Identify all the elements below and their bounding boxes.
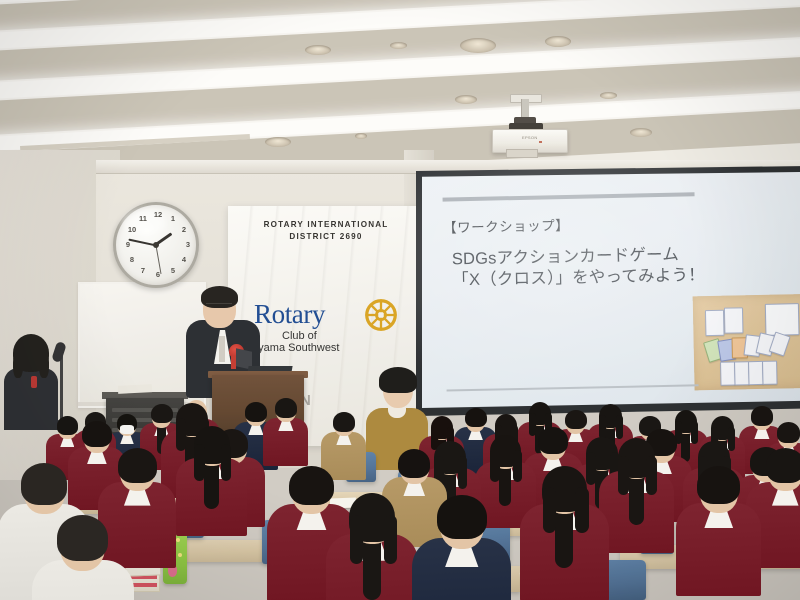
ceiling-downlight (455, 95, 477, 104)
rotary-club-of-label: Club of (282, 330, 317, 342)
audience-hair (118, 448, 157, 483)
audience-hair (766, 448, 800, 483)
audience-hair (245, 402, 268, 422)
photo-scene: EPSON 121234567891011 ROTARY INTERNATION… (0, 0, 800, 600)
clock-numeral: 6 (153, 270, 163, 280)
banner-line-2: DISTRICT 2690 (228, 232, 424, 241)
ceiling-projector: EPSON (492, 99, 566, 155)
clock-numeral: 4 (179, 255, 189, 265)
projector-status-led (539, 141, 542, 143)
audience-hair (82, 421, 111, 447)
audience-hair (465, 408, 487, 428)
audience-side-hair (458, 456, 467, 489)
ceiling-downlight (265, 137, 291, 147)
audience-side-hair (691, 421, 698, 445)
face-mask (120, 425, 134, 433)
slide-top-rule (443, 192, 695, 201)
ceiling-downlight (305, 45, 331, 55)
slide-heading: 【ワークショップ】 (443, 214, 569, 237)
audience-side-hair (384, 515, 398, 563)
ceiling-downlight (355, 133, 367, 139)
ceiling (0, 0, 800, 185)
audience-side-hair (618, 456, 629, 495)
audience-side-hair (176, 418, 185, 451)
audience-hair (333, 412, 356, 432)
ceiling-downlight (630, 128, 652, 137)
audience-hair (275, 398, 298, 418)
audience-side-hair (490, 450, 499, 482)
ceiling-downlight (460, 38, 496, 53)
thermos-motif (168, 566, 177, 577)
audience-hair (289, 466, 333, 506)
clock-numeral: 10 (127, 225, 137, 235)
rotary-gear-icon (358, 292, 404, 338)
slide-bottom-rule (447, 384, 699, 391)
audience-side-hair (599, 415, 606, 439)
slide-photo-card-game (693, 294, 800, 390)
audience-hair (57, 515, 108, 561)
microphone-stand (60, 356, 63, 422)
mc-hair (13, 334, 49, 372)
audience-side-hair (543, 487, 556, 533)
audience-hair (697, 466, 740, 504)
slide-body: SDGsアクションカードゲーム 「X（クロス）」をやってみよう！ (452, 244, 705, 292)
audience-side-hair (529, 413, 536, 437)
rotary-wordmark: Rotary (254, 299, 325, 330)
clock-numeral: 2 (179, 225, 189, 235)
wall-clock: 121234567891011 (113, 202, 199, 288)
audience-side-hair (616, 415, 623, 439)
audience-hair (57, 416, 78, 435)
audience-side-hair (194, 444, 205, 481)
mustard-sweater-person-hair (379, 367, 417, 393)
presenter-tie (219, 336, 225, 362)
projector-brand-label: EPSON (522, 135, 538, 140)
ceiling-downlight (545, 36, 571, 47)
audience-side-hair (350, 515, 364, 563)
clock-hub (153, 242, 159, 248)
clock-numeral: 8 (127, 255, 137, 265)
audience-side-hair (575, 487, 588, 533)
slide-content: 【ワークショップ】 SDGsアクションカードゲーム 「X（クロス）」をやってみよ… (422, 172, 800, 408)
audience-hair (151, 404, 173, 424)
rotary-logo: Rotary Club of Okayama Southwest (254, 288, 404, 344)
mc-ribbon-badge (31, 376, 37, 388)
audience-side-hair (513, 450, 522, 482)
audience-side-hair (221, 444, 232, 481)
audience-hair (21, 463, 67, 504)
audience-side-hair (586, 452, 595, 485)
ceiling-downlight (390, 42, 407, 49)
banner-line-1: ROTARY INTERNATIONAL (228, 220, 424, 229)
audience-hair (751, 406, 774, 426)
slide-body-line-2: 「X（クロス）」をやってみよう！ (452, 266, 705, 293)
projected-slide: 【ワークショップ】 SDGsアクションカードゲーム 「X（クロス）」をやってみよ… (422, 172, 800, 408)
audience-hair (398, 449, 430, 478)
clock-numeral: 12 (153, 210, 163, 220)
audience-hair (538, 427, 568, 454)
projector-lens (506, 149, 538, 158)
clock-numeral: 5 (168, 266, 178, 276)
audience-hair (565, 410, 587, 430)
clock-numeral: 3 (183, 240, 193, 250)
audience-side-hair (728, 427, 735, 451)
clock-numeral: 1 (168, 214, 178, 224)
audience-side-hair (646, 456, 657, 495)
presenter-glasses (206, 303, 232, 310)
audience-hair (437, 495, 487, 539)
clock-numeral: 9 (123, 240, 133, 250)
audience-hair (777, 422, 800, 443)
ceiling-downlight (600, 92, 617, 99)
clock-numeral: 7 (138, 266, 148, 276)
clock-numeral: 11 (138, 214, 148, 224)
